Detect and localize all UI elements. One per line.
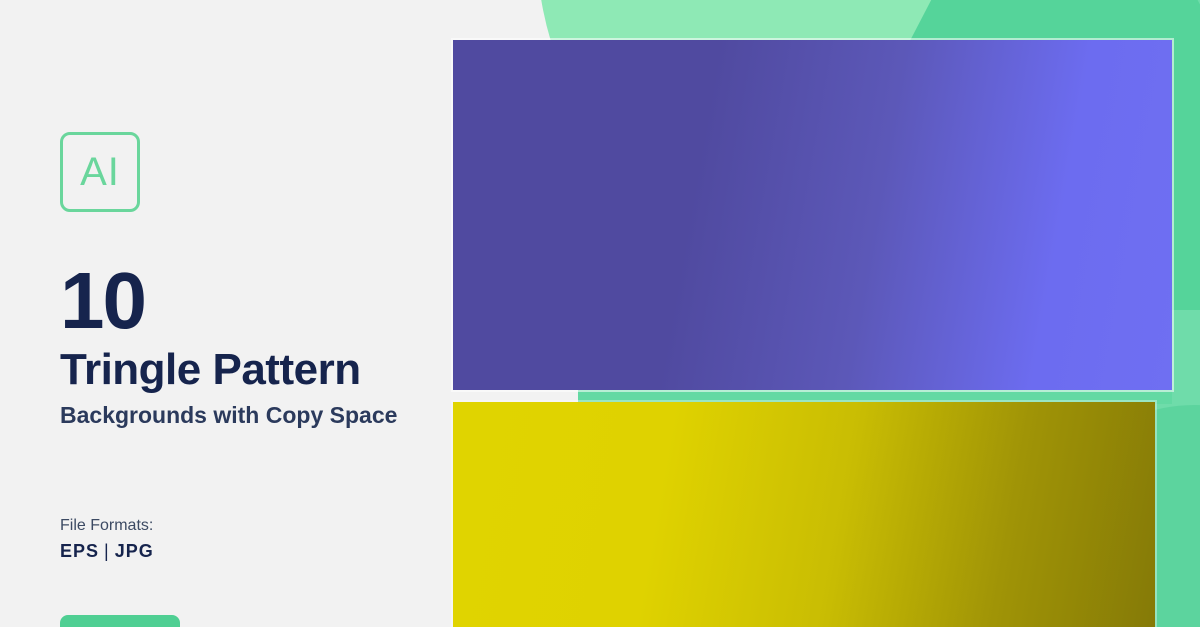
adobe-illustrator-badge: AI — [60, 132, 140, 212]
purple-triangle-pattern-preview[interactable] — [453, 40, 1172, 390]
purple-triangle-lattice-graphic — [453, 40, 1172, 390]
format-separator: | — [99, 541, 115, 561]
info-column: AI 10 Tringle Pattern Backgrounds with C… — [0, 0, 453, 627]
page-title: Tringle Pattern — [60, 348, 361, 392]
download-button[interactable]: Download — [60, 615, 180, 627]
headline-subtitle: Backgrounds with Copy Space — [60, 400, 440, 431]
format-jpg: JPG — [115, 541, 154, 561]
format-eps: EPS — [60, 541, 99, 561]
ai-badge-label: AI — [80, 152, 120, 192]
headline-count: 10 — [60, 265, 145, 337]
file-formats-value: EPS|JPG — [60, 541, 154, 562]
file-formats-label: File Formats: — [60, 517, 153, 535]
promo-banner: AI 10 Tringle Pattern Backgrounds with C… — [0, 0, 1200, 627]
yellow-triangle-pattern-preview[interactable] — [453, 402, 1155, 627]
yellow-triangle-lattice-graphic — [453, 402, 1155, 627]
